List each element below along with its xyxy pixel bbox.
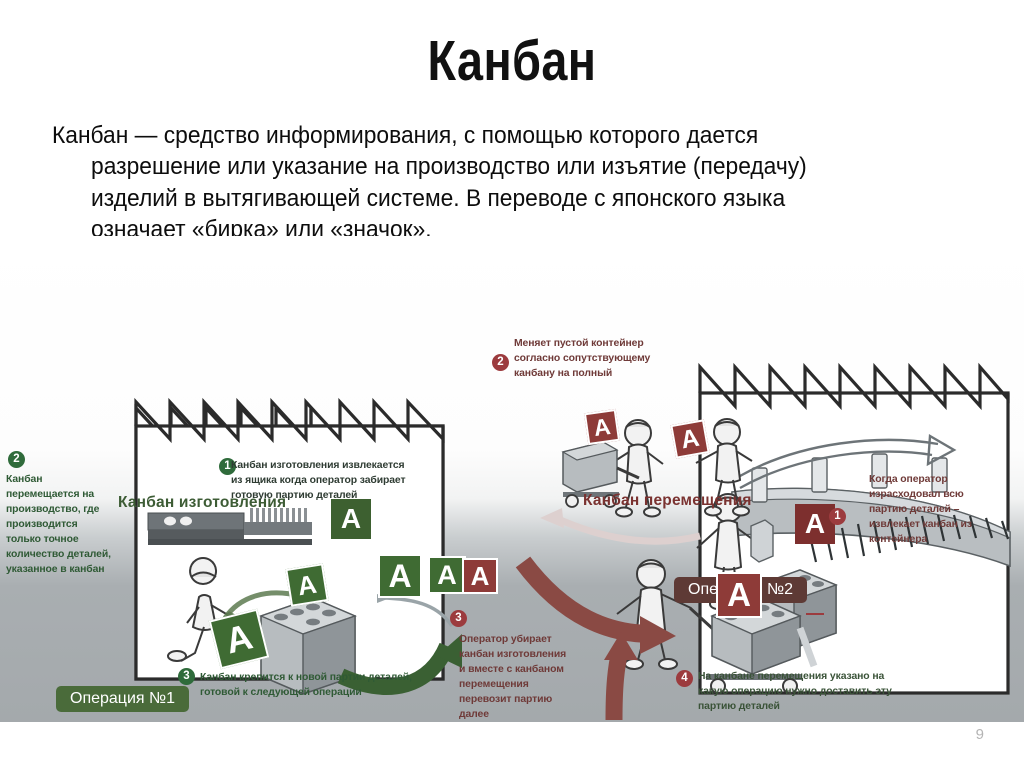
note-mid-3: Оператор убирает канбан изготовления и в… (459, 632, 566, 722)
page-number: 9 (976, 726, 984, 743)
body-line-1: Канбан — средство информирования, с помо… (52, 120, 870, 151)
withdrawal-kanban-heading: Канбан перемещения (583, 492, 752, 510)
operation-1-label: Операция №1 (56, 686, 189, 712)
slide-canvas: Канбан Канбан — средство информирования,… (0, 0, 1024, 767)
kanban-card-red-pallet: А (584, 409, 620, 445)
kanban-card-green-worker: А (209, 609, 270, 670)
bullet-right-1: 1 (829, 508, 846, 525)
kanban-card-green-crate: А (378, 554, 422, 598)
kanban-card-red-transit: А (462, 558, 498, 594)
body-paragraph: Канбан — средство информирования, с помо… (52, 120, 870, 245)
page-title: Канбан (92, 28, 932, 94)
note-left-3: Канбан крепится к новой партии деталей, … (200, 670, 412, 700)
bullet-left-3: 3 (178, 668, 195, 685)
withdrawal-kanban-card: А (795, 504, 835, 544)
bullet-left-2: 2 (8, 451, 25, 468)
bullet-mid-3: 3 (450, 610, 467, 627)
note-left-1: Канбан изготовления извлекается из ящика… (231, 458, 405, 503)
note-right-4: На канбане перемещения указано на какую … (698, 669, 892, 714)
note-right-1: Когда оператор израсходовал всю партию д… (869, 472, 972, 547)
production-kanban-card: А (331, 499, 371, 539)
note-right-2: Меняет пустой контейнер согласно сопутст… (514, 336, 650, 381)
body-line-2: разрешение или указание на производство … (52, 151, 870, 182)
kanban-card-red-hand: А (670, 419, 709, 458)
body-line-3: изделий в вытягивающей системе. В перево… (52, 183, 870, 214)
kanban-process-diagram: Канбан изготовления А Канбан перемещения… (0, 236, 1024, 722)
kanban-card-green-transit: А (428, 556, 466, 594)
bullet-right-4: 4 (676, 670, 693, 687)
kanban-card-red-trolley: А (716, 572, 762, 618)
kanban-card-green-floating: А (285, 563, 328, 606)
note-left-2: Канбан перемещается на производство, где… (6, 472, 111, 578)
bullet-right-2: 2 (492, 354, 509, 371)
